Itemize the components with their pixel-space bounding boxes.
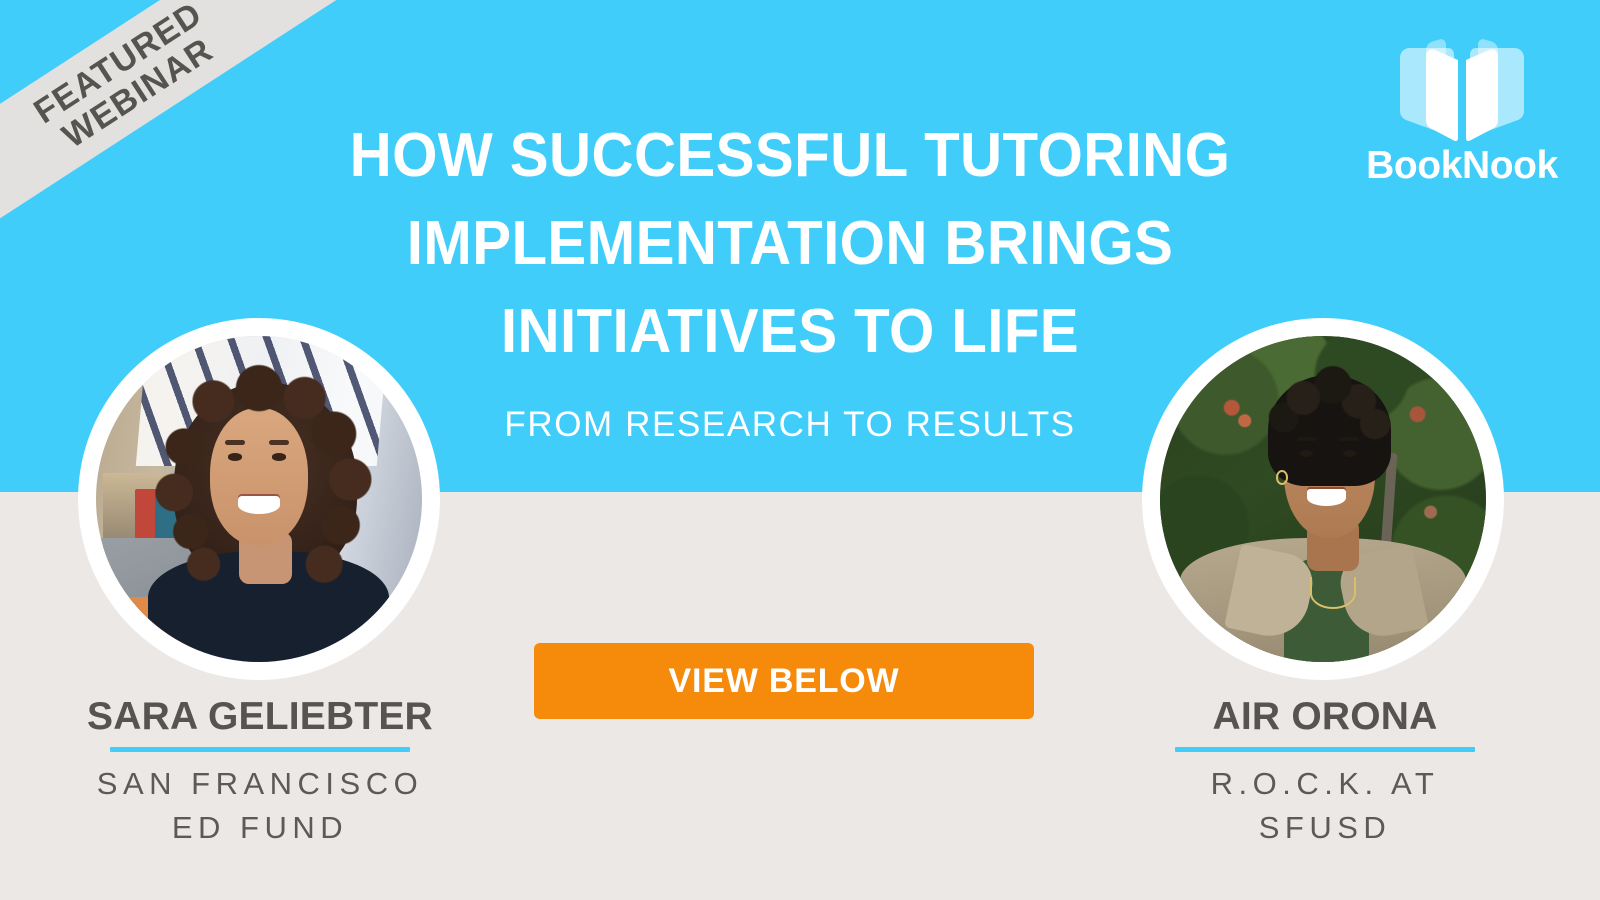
avatar [96,336,422,662]
speaker-organization: SAN FRANCISCO ED FUND [25,762,495,850]
speaker-caption-sara-geliebter: SARA GELIEBTER SAN FRANCISCO ED FUND [25,696,495,850]
speaker-caption-air-orona: AIR ORONA R.O.C.K. AT SFUSD [1090,696,1560,850]
speaker-photo-sara-geliebter [78,318,440,680]
headline-line-2: IMPLEMENTATION BRINGS [320,200,1260,288]
speaker-photo-air-orona [1142,318,1504,680]
avatar [1160,336,1486,662]
view-below-button[interactable]: VIEW BELOW [534,643,1034,719]
speaker-name: AIR ORONA [1090,696,1560,739]
open-book-icon [1386,36,1538,142]
speaker-divider [110,747,410,752]
headline-line-3: INITIATIVES TO LIFE [320,288,1260,376]
webinar-promo-graphic: FEATURED WEBINAR BookNook HOW SUCCESSFUL… [0,0,1600,900]
headline-line-1: HOW SUCCESSFUL TUTORING [320,112,1260,200]
brand-wordmark: BookNook [1366,146,1558,185]
speaker-organization: R.O.C.K. AT SFUSD [1090,762,1560,850]
booknook-logo[interactable]: BookNook [1362,36,1562,185]
speaker-name: SARA GELIEBTER [25,696,495,739]
page-subtitle: FROM RESEARCH TO RESULTS [290,405,1290,445]
page-title: HOW SUCCESSFUL TUTORING IMPLEMENTATION B… [290,112,1290,376]
speaker-divider [1175,747,1475,752]
